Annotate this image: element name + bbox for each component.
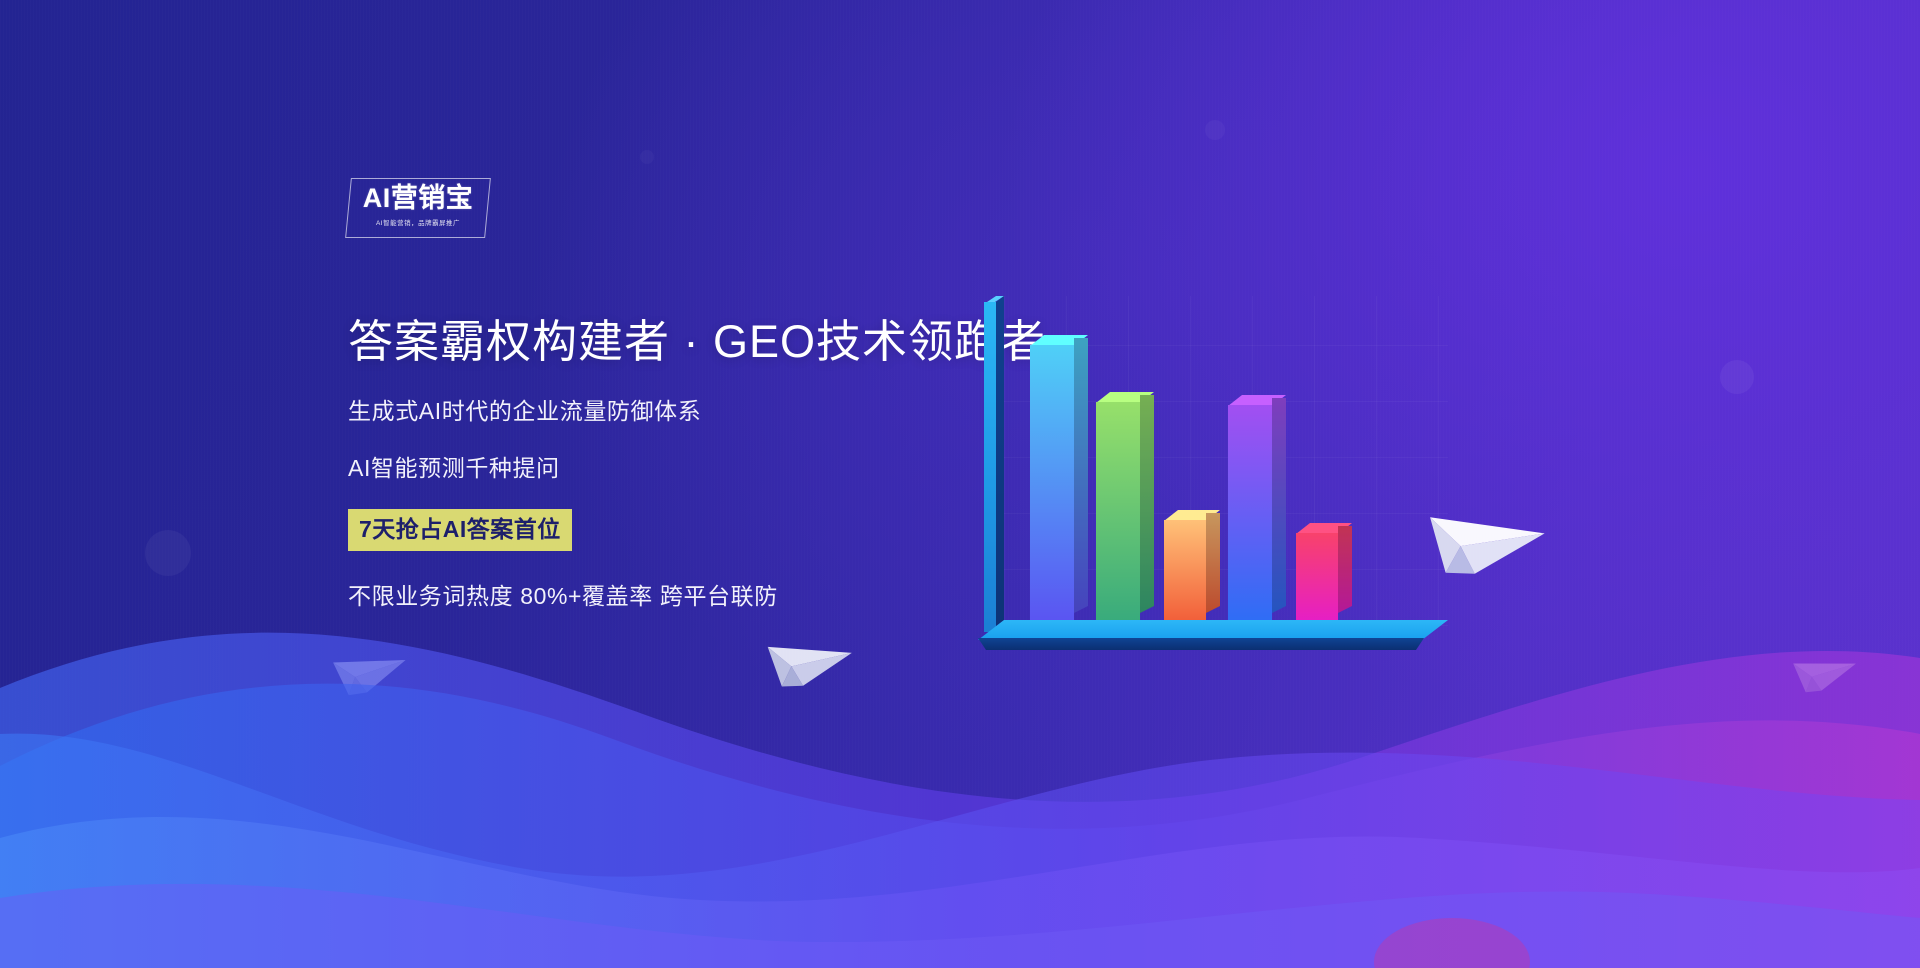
logo-wordmark: AI营销宝	[348, 182, 488, 214]
hero-subtitle-1: 生成式AI时代的企业流量防御体系	[348, 396, 1068, 426]
decor-circle-4	[640, 150, 654, 164]
bar-face	[1228, 405, 1272, 620]
chart-base-platform	[978, 620, 1448, 664]
page-title: 答案霸权构建者 · GEO技术领跑者	[348, 312, 1068, 372]
chart-bar-1	[1030, 345, 1074, 620]
chart-bar-3	[1164, 520, 1206, 620]
bar-side	[1140, 395, 1154, 613]
paper-plane-far-icon	[1787, 651, 1858, 705]
bar-side	[1206, 513, 1220, 613]
chart-bar-2	[1096, 402, 1140, 620]
chart-bar-4	[1228, 405, 1272, 620]
paper-plane-mid-icon	[756, 630, 853, 707]
chart-bar-5	[1296, 533, 1338, 620]
bar-side	[1074, 338, 1088, 613]
hero-copy: 答案霸权构建者 · GEO技术领跑者 生成式AI时代的企业流量防御体系 AI智能…	[348, 312, 1068, 611]
hero-banner: AI营销宝 AI智能营销，品牌霸屏推广 答案霸权构建者 · GEO技术领跑者 生…	[0, 0, 1920, 968]
bar-face	[1030, 345, 1074, 620]
brand-logo[interactable]: AI营销宝 AI智能营销，品牌霸屏推广	[348, 178, 488, 238]
bar-face	[1164, 520, 1206, 620]
chart-y-axis	[978, 296, 1004, 632]
decor-circle-3	[1205, 120, 1225, 140]
hero-subtitle-4: 不限业务词热度 80%+覆盖率 跨平台联防	[348, 581, 1068, 611]
logo-tagline: AI智能营销，品牌霸屏推广	[354, 218, 483, 227]
bar-face	[1096, 402, 1140, 620]
bar-side	[1272, 398, 1286, 613]
bar-chart-illustration	[978, 296, 1448, 664]
bar-face	[1296, 533, 1338, 620]
decor-circle-2	[1720, 360, 1754, 394]
hero-subtitle-2: AI智能预测千种提问	[348, 453, 1068, 483]
hero-highlight-row: 7天抢占AI答案首位	[348, 509, 1068, 551]
paper-plane-left-icon	[327, 647, 408, 709]
hero-highlight-badge: 7天抢占AI答案首位	[348, 509, 572, 551]
bar-side	[1338, 526, 1352, 613]
decor-circle-1	[145, 530, 191, 576]
